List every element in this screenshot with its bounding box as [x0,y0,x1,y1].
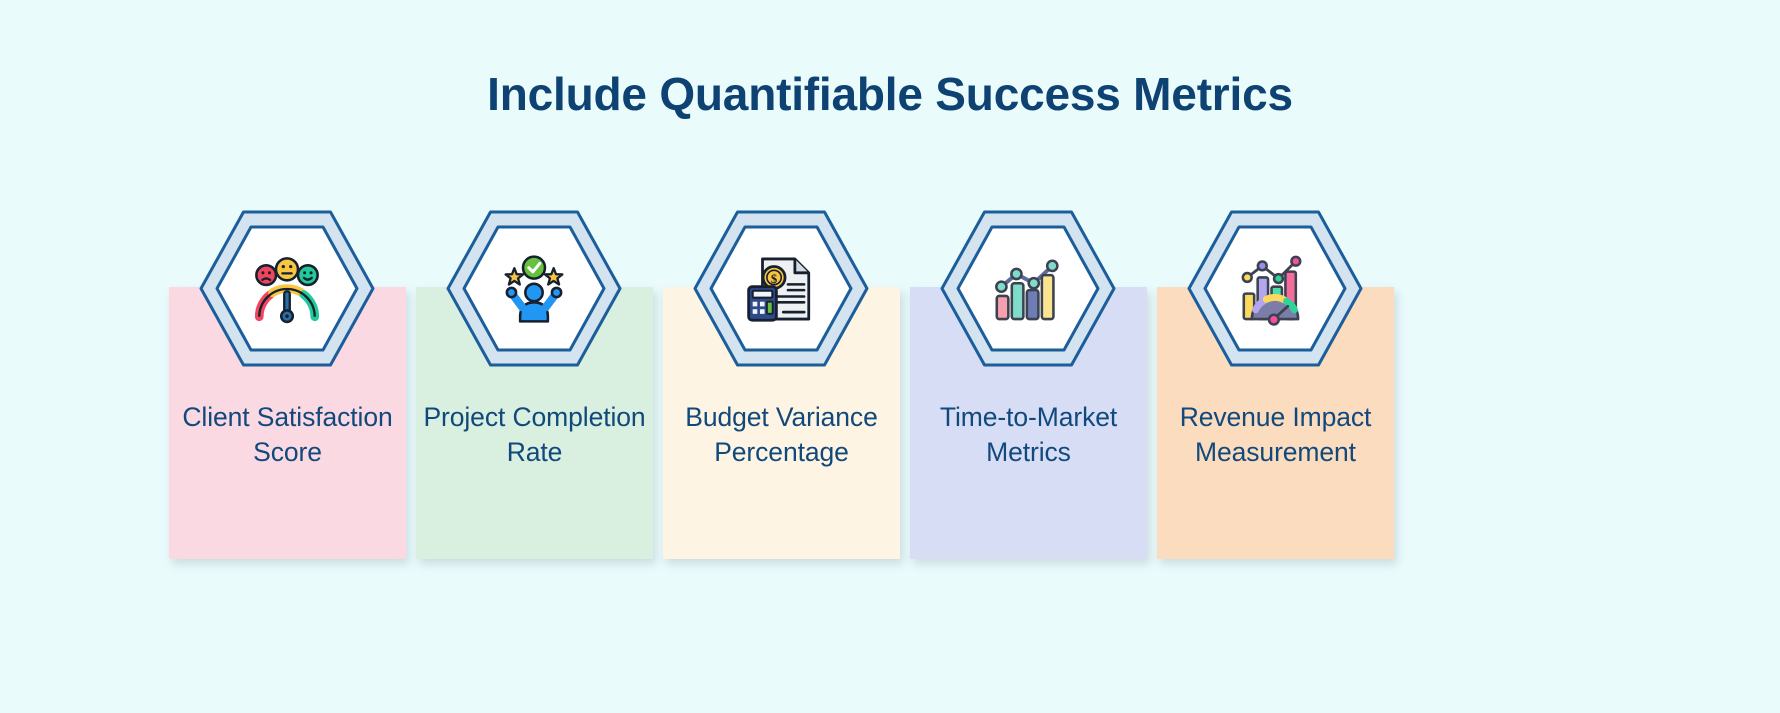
metric-card-client-satisfaction-score[interactable]: Client Satisfaction Score [169,287,406,559]
metric-cards-row: Client Satisfaction Score Project Comple… [169,287,1403,559]
metric-card-time-to-market-metrics[interactable]: Time-to-Market Metrics [910,287,1147,559]
metric-card-project-completion-rate[interactable]: Project Completion Rate [416,287,653,559]
metric-card-label: Client Satisfaction Score [169,400,406,470]
metric-card-label: Revenue Impact Measurement [1157,400,1394,470]
metric-card-label: Time-to-Market Metrics [910,400,1147,470]
infographic-canvas: Include Quantifiable Success Metrics Cli… [0,0,1780,713]
metric-card-label: Budget Variance Percentage [663,400,900,470]
svg-text:$: $ [771,271,777,285]
page-title: Include Quantifiable Success Metrics [0,68,1780,121]
metric-card-budget-variance-percentage[interactable]: Budget Variance Percentage [663,287,900,559]
metric-card-revenue-impact-measurement[interactable]: Revenue Impact Measurement [1157,287,1394,559]
metric-card-label: Project Completion Rate [416,400,653,470]
